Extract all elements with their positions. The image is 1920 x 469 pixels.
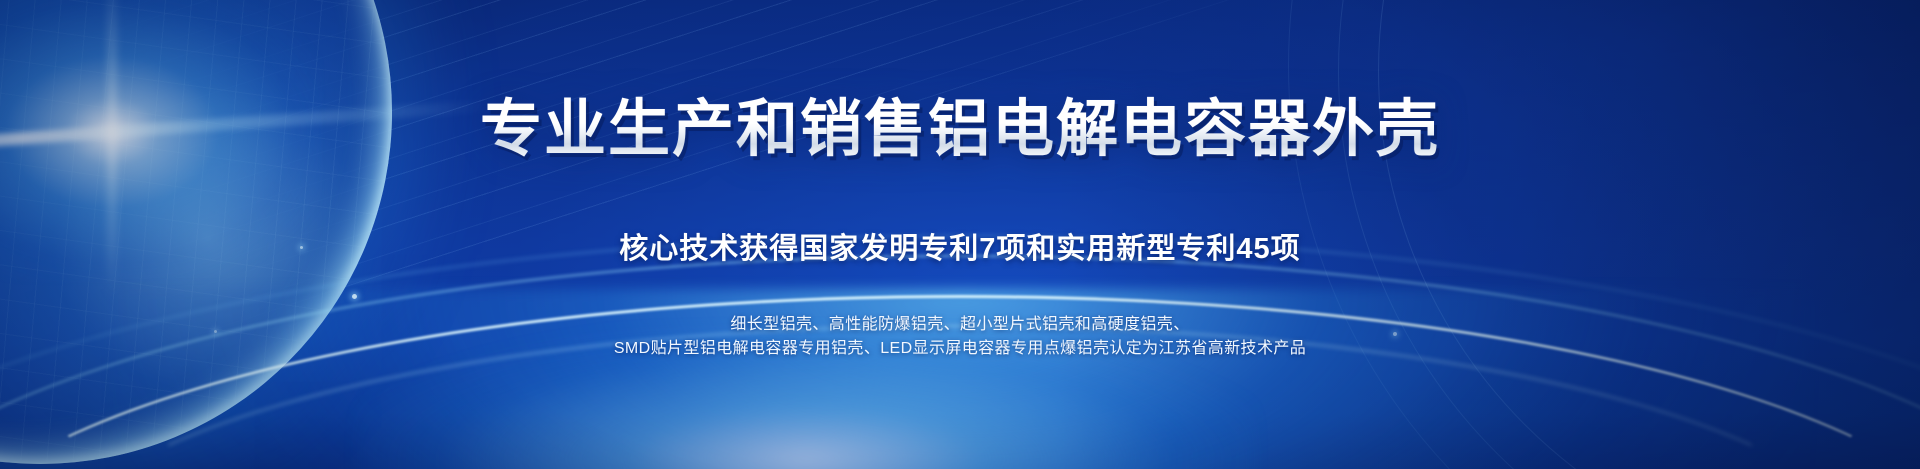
hero-banner: 专业生产和销售铝电解电容器外壳 核心技术获得国家发明专利7项和实用新型专利45项… <box>0 0 1920 469</box>
banner-description-line-1: 细长型铝壳、高性能防爆铝壳、超小型片式铝壳和高硬度铝壳、 <box>614 313 1306 337</box>
banner-description: 细长型铝壳、高性能防爆铝壳、超小型片式铝壳和高硬度铝壳、 SMD贴片型铝电解电容… <box>614 313 1306 361</box>
banner-content: 专业生产和销售铝电解电容器外壳 核心技术获得国家发明专利7项和实用新型专利45项… <box>0 0 1920 469</box>
banner-subtitle: 核心技术获得国家发明专利7项和实用新型专利45项 <box>619 225 1300 267</box>
banner-description-line-2: SMD贴片型铝电解电容器专用铝壳、LED显示屏电容器专用点爆铝壳认定为江苏省高新… <box>614 337 1306 361</box>
banner-title: 专业生产和销售铝电解电容器外壳 <box>480 96 1440 161</box>
